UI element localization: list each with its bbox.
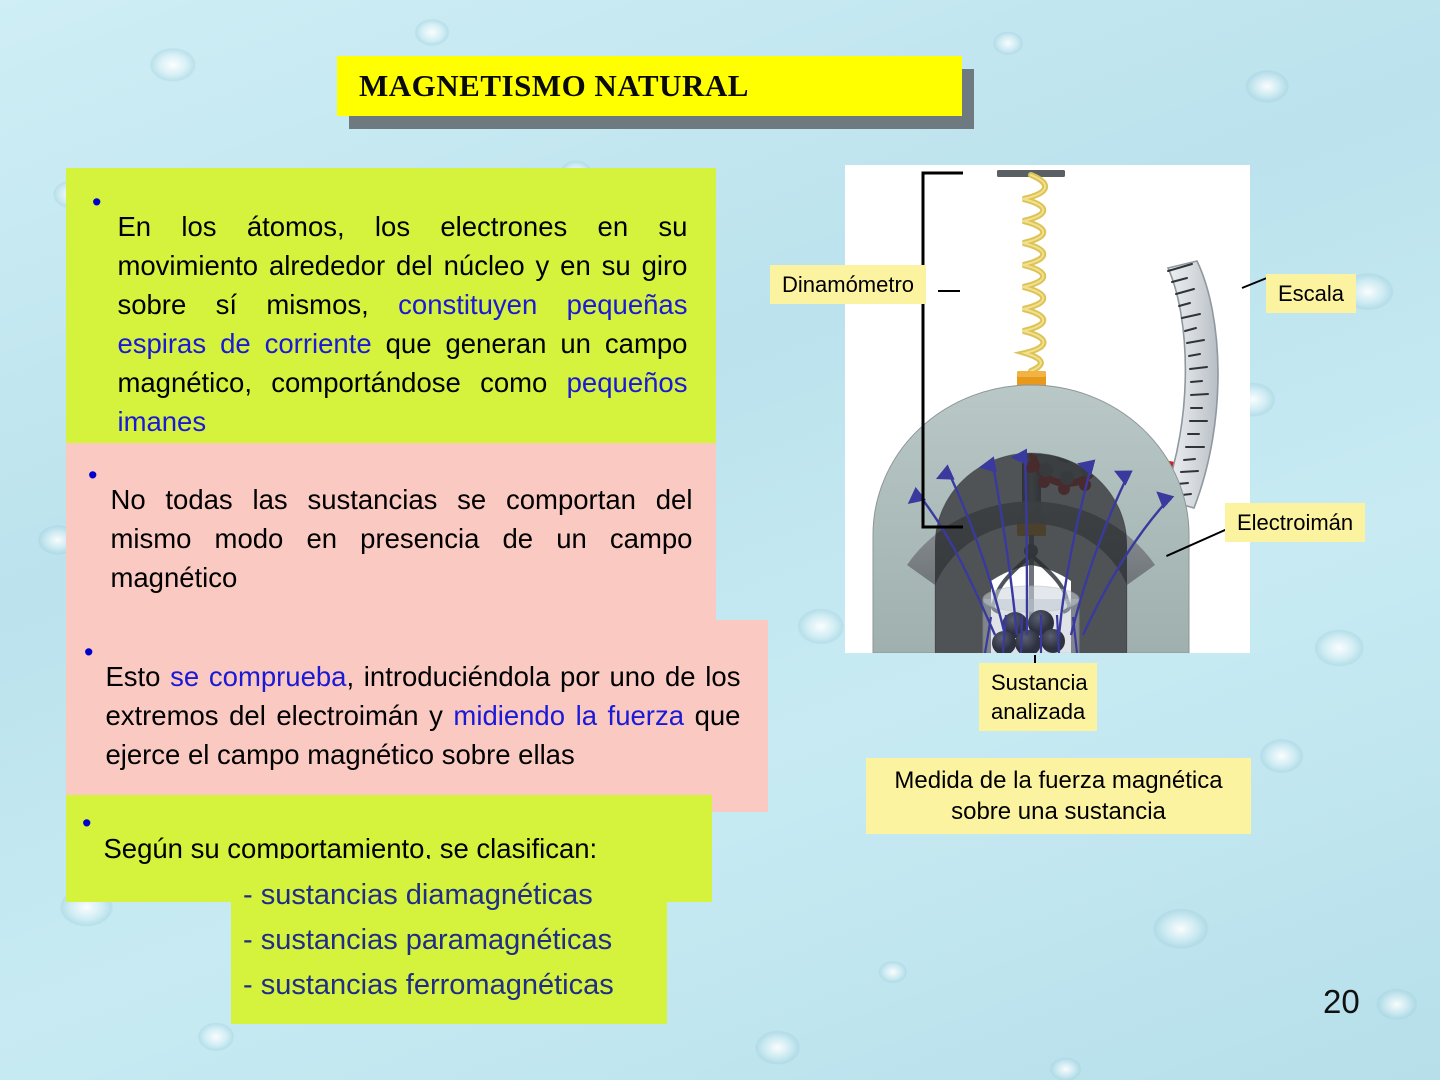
page-title: MAGNETISMO NATURAL — [337, 68, 749, 104]
highlighted-phrase: se comprueba — [170, 661, 346, 692]
list-item: - sustancias ferromagnéticas — [231, 963, 667, 1008]
bullet-icon: • — [82, 810, 91, 837]
paragraph-measurement: Esto se comprueba, introduciéndola por u… — [105, 657, 740, 774]
list-item: - sustancias diamagnéticas — [231, 873, 667, 918]
title-banner: MAGNETISMO NATURAL — [337, 56, 962, 116]
label-electroiman: Electroimán — [1225, 503, 1365, 542]
label-dinamometro: Dinamómetro — [770, 265, 926, 304]
plain-phrase: Esto — [105, 661, 170, 692]
page-number: 20 — [1323, 983, 1360, 1021]
leader-line-dinamometro — [938, 290, 960, 292]
classification-list: - sustancias diamagnéticas - sustancias … — [231, 859, 667, 1024]
list-item: - sustancias paramagnéticas — [231, 918, 667, 963]
plain-phrase: No todas las sustancias se comportan del… — [110, 484, 692, 593]
bullet-row: • No todas las sustancias se comportan d… — [82, 452, 700, 624]
bullet-icon: • — [92, 189, 101, 216]
bullet-row: • En los átomos, los electrones en su mo… — [82, 179, 700, 468]
bullet-row: • Esto se comprueba, introduciéndola por… — [80, 629, 752, 801]
diagram-svg — [845, 165, 1250, 653]
slide-root: MAGNETISMO NATURAL • En los átomos, los … — [0, 0, 1440, 1080]
diagram-caption: Medida de la fuerza magnética sobre una … — [866, 758, 1251, 834]
bullet-icon: • — [88, 462, 97, 489]
content-box-atoms: • En los átomos, los electrones en su mo… — [66, 168, 716, 480]
label-sustancia-analizada: Sustancia analizada — [979, 663, 1097, 731]
bullet-icon: • — [84, 639, 93, 666]
content-box-substances: • No todas las sustancias se comportan d… — [66, 443, 716, 635]
experiment-diagram — [845, 165, 1250, 653]
paragraph-substances: No todas las sustancias se comportan del… — [110, 480, 692, 597]
highlighted-phrase: midiendo la fuerza — [453, 700, 684, 731]
paragraph-atoms: En los átomos, los electrones en su movi… — [117, 207, 687, 441]
label-escala: Escala — [1266, 274, 1356, 313]
content-box-measurement: • Esto se comprueba, introduciéndola por… — [66, 620, 768, 812]
